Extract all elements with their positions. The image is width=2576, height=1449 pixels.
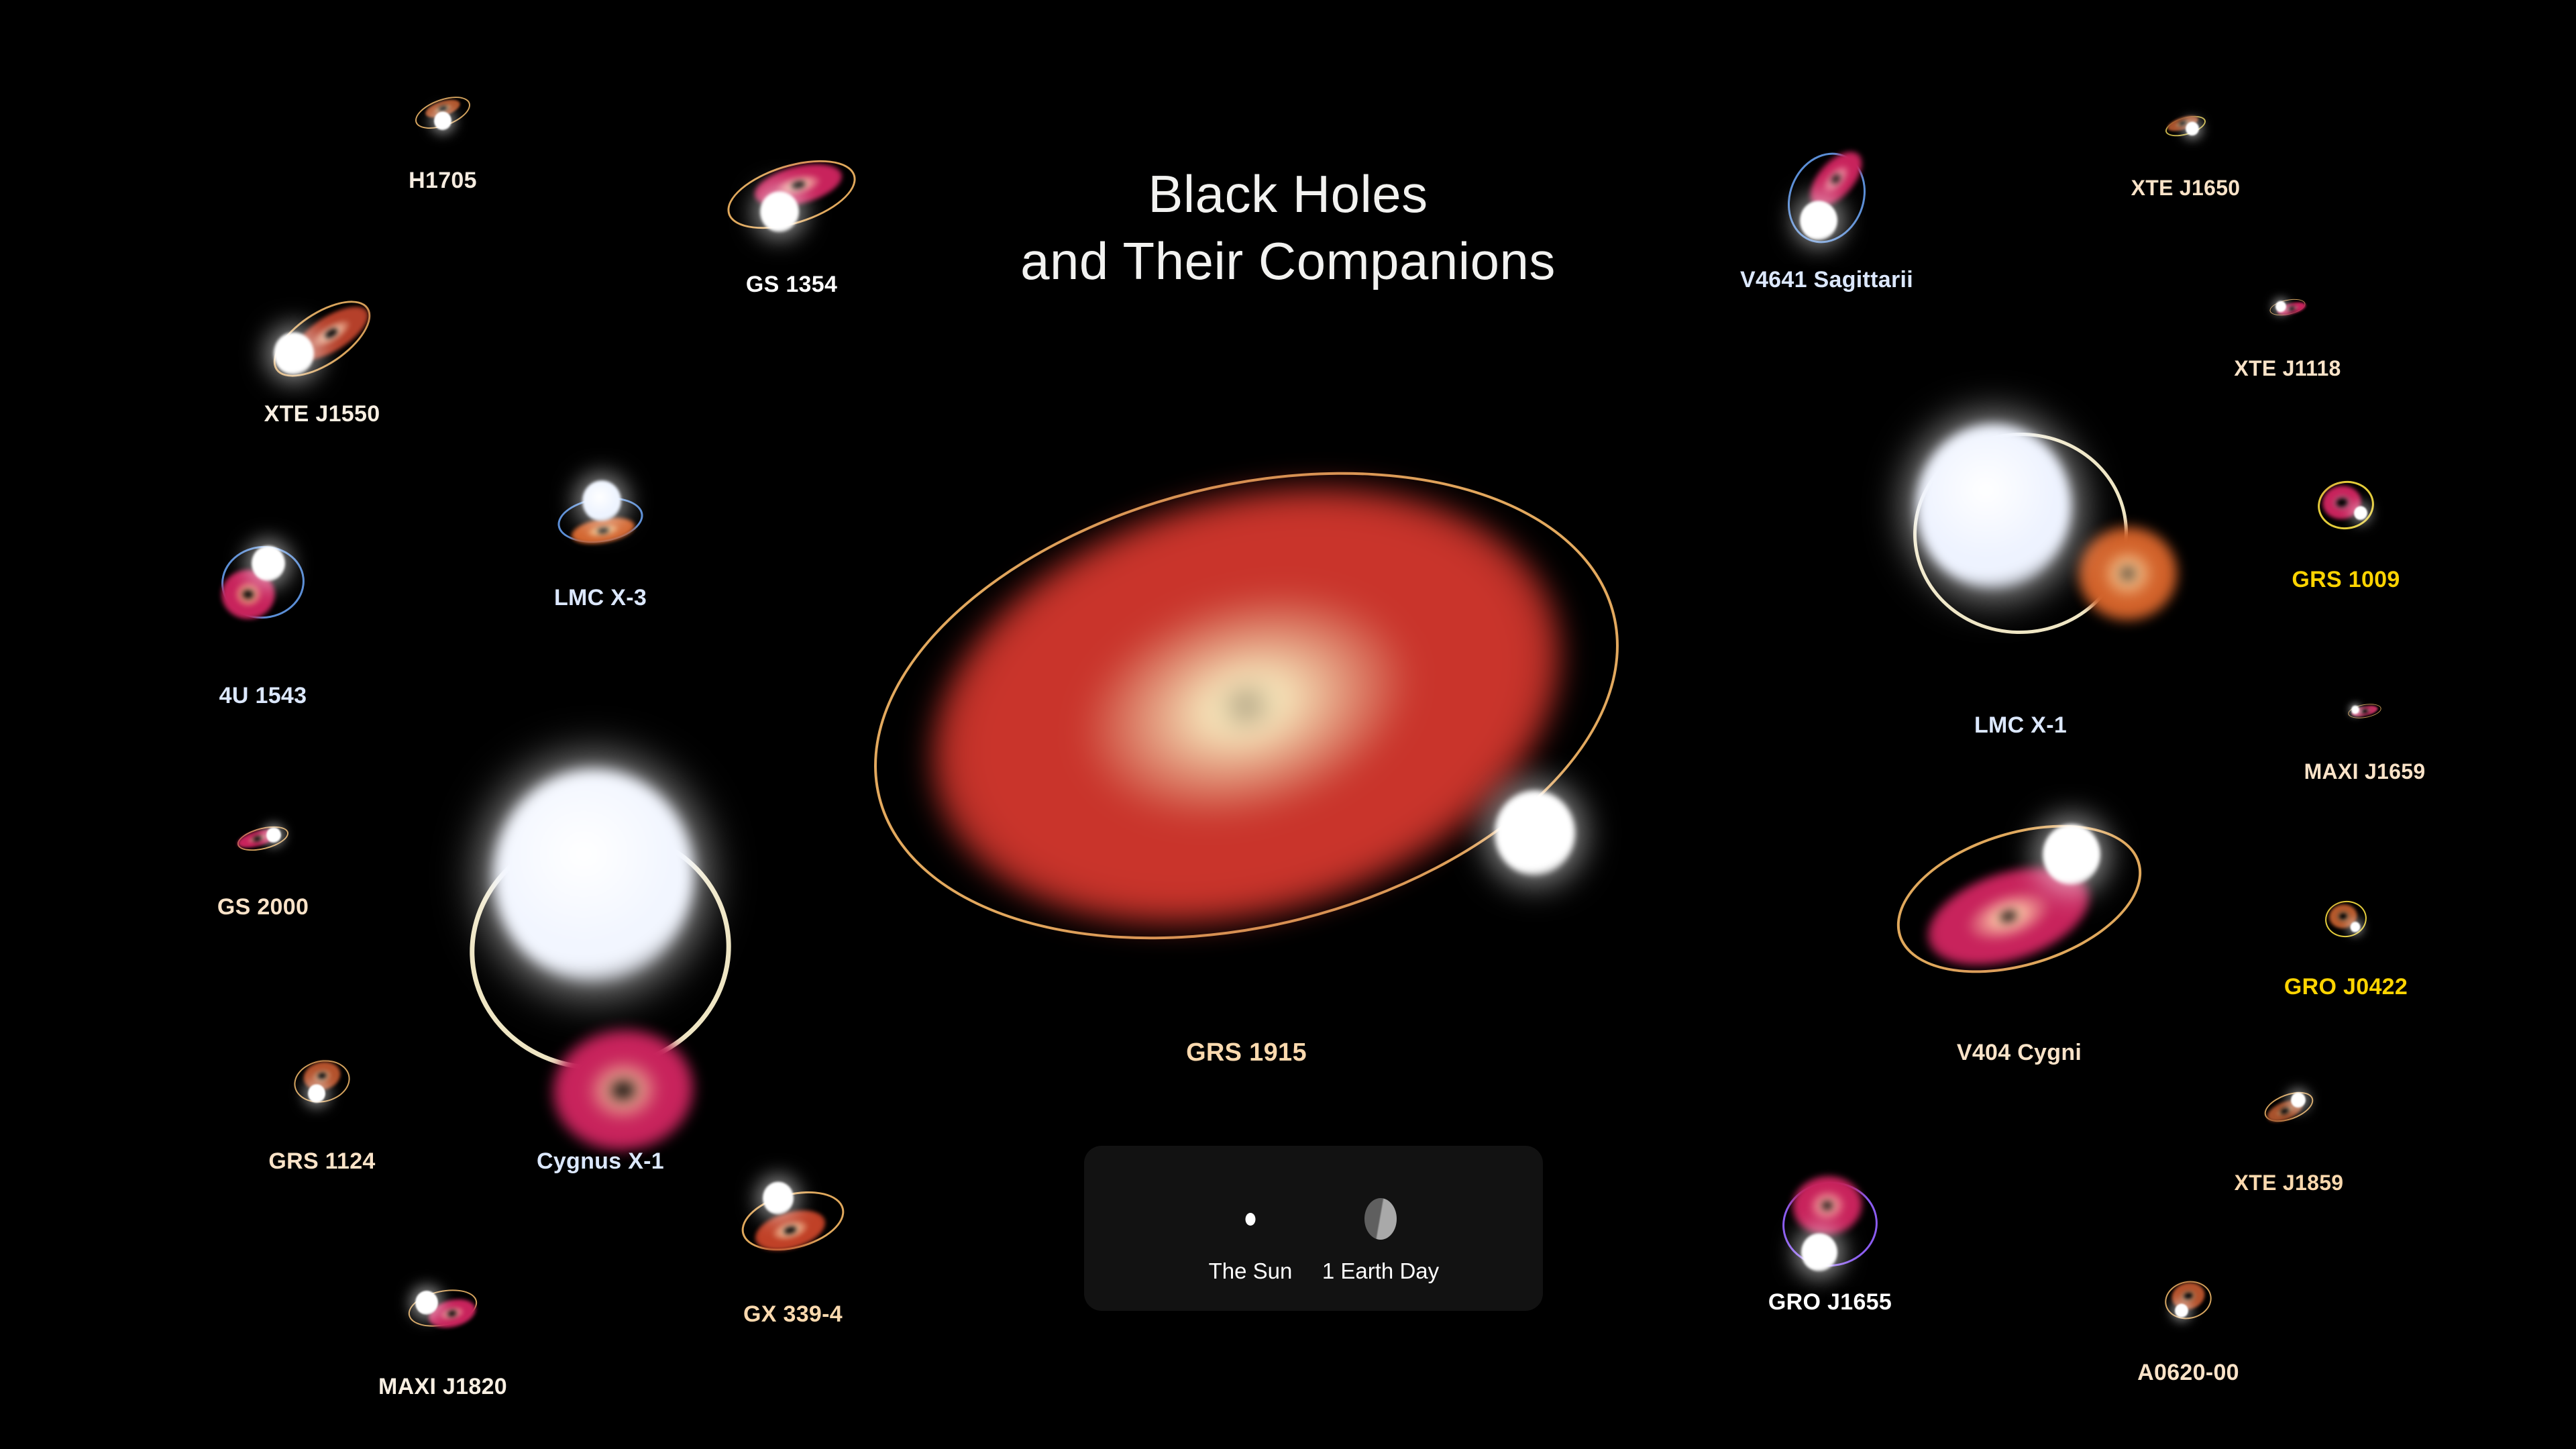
companion-star (1800, 201, 1837, 240)
infographic-canvas: Black Holes and Their Companions H1705GS… (0, 0, 2576, 1449)
companion-star (2175, 1303, 2188, 1318)
companion-star (434, 111, 451, 130)
system-label: GRO J1655 (1768, 1289, 1892, 1316)
companion-star (2351, 706, 2359, 714)
companion-star (2275, 301, 2286, 313)
system-label: GX 339-4 (743, 1301, 843, 1328)
system-label: LMC X-1 (1974, 712, 2067, 739)
system-label: GRS 1915 (1186, 1038, 1307, 1067)
title-line-2: and Their Companions (0, 228, 2576, 295)
system-label: A0620-00 (2137, 1360, 2239, 1386)
companion-star (2186, 121, 2199, 136)
system-label: GRS 1009 (2292, 567, 2400, 593)
system-label: H1705 (409, 168, 477, 194)
system-label: MAXI J1820 (378, 1374, 507, 1400)
companion-star (1801, 1233, 1837, 1271)
system-label: XTE J1859 (2235, 1171, 2344, 1195)
system-label: XTE J1650 (2131, 176, 2241, 201)
system-label: Cygnus X-1 (537, 1148, 664, 1175)
companion-star (760, 191, 799, 232)
legend-sun-label: The Sun (1209, 1258, 1293, 1284)
companion-star (2351, 922, 2361, 932)
system-label: GS 1354 (746, 272, 837, 298)
system-label: V4641 Sagittarii (1740, 267, 1913, 293)
system-label: LMC X-3 (554, 585, 647, 611)
companion-star (1495, 790, 1575, 875)
system-label: GS 2000 (217, 894, 309, 920)
system-label: XTE J1550 (264, 401, 380, 427)
scale-legend-panel: The Sun 1 Earth Day (1084, 1146, 1543, 1311)
system-label: MAXI J1659 (2304, 759, 2426, 784)
system-label: GRO J0422 (2284, 974, 2408, 1000)
sun-dot-icon (1246, 1213, 1256, 1226)
companion-star (2354, 506, 2367, 520)
legend-earth-day-label: 1 Earth Day (1322, 1258, 1439, 1284)
companion-star (493, 769, 694, 982)
system-label: GRS 1124 (268, 1148, 375, 1175)
companion-star (582, 480, 621, 521)
system-label: V404 Cygni (1957, 1040, 2082, 1066)
earth-day-globe-icon (1364, 1198, 1397, 1240)
companion-star (415, 1291, 438, 1315)
system-label: 4U 1543 (219, 683, 307, 709)
companion-star (252, 546, 285, 582)
companion-star (274, 332, 314, 375)
system-label: XTE J1118 (2234, 356, 2341, 381)
companion-star (2043, 824, 2100, 885)
companion-star (1916, 424, 2072, 589)
companion-star (308, 1084, 325, 1103)
companion-star (763, 1182, 794, 1215)
